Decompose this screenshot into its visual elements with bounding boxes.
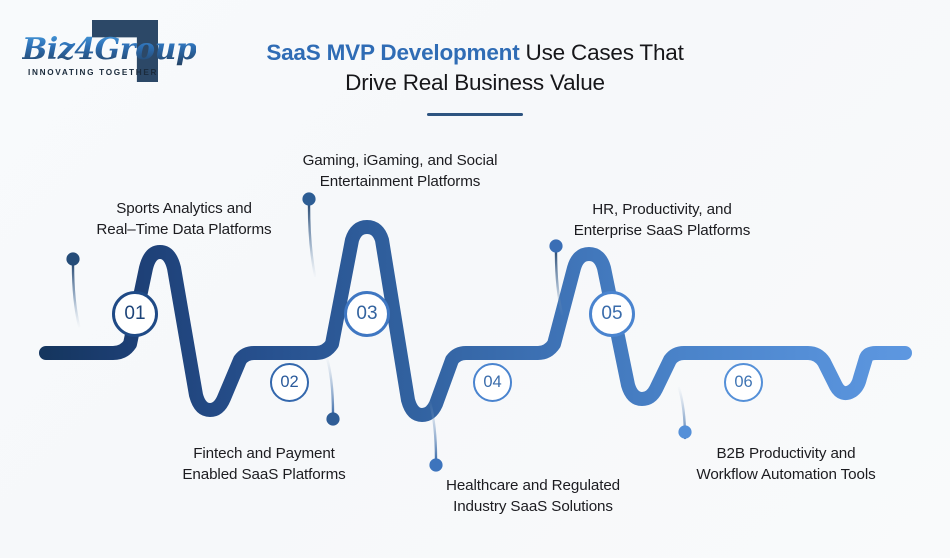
title-underline [427,113,523,116]
step-badge-06[interactable]: 06 [724,363,763,402]
step-badge-02[interactable]: 02 [270,363,309,402]
step-label-03: Gaming, iGaming, and Social Entertainmen… [250,150,550,192]
step-label-04: Healthcare and Regulated Industry SaaS S… [396,475,670,517]
step-label-01: Sports Analytics and Real–Time Data Plat… [36,198,332,240]
step-label-02: Fintech and Payment Enabled SaaS Platfor… [142,443,386,485]
title-line-2: Drive Real Business Value [225,68,725,98]
page-title: SaaS MVP Development Use Cases That Driv… [225,38,725,98]
step-label-05: HR, Productivity, and Enterprise SaaS Pl… [512,199,812,241]
logo-tagline: INNOVATING TOGETHER [28,68,158,77]
step-badge-04[interactable]: 04 [473,363,512,402]
connector-dot-05 [549,239,562,252]
connector-04 [429,402,442,472]
infographic-canvas: Biz4Group INNOVATING TOGETHER SaaS MVP D… [0,0,950,558]
step-label-06: B2B Productivity and Workflow Automation… [646,443,926,485]
logo-wordmark: Biz4Group [22,32,196,67]
title-line-1: SaaS MVP Development Use Cases That [225,38,725,68]
connector-05 [549,239,562,314]
step-badge-05[interactable]: 05 [589,291,635,337]
connector-dot-06 [678,425,691,438]
connector-01 [66,252,79,326]
connector-06 [678,388,691,439]
title-rest: Use Cases That [520,40,684,65]
step-badge-01[interactable]: 01 [112,291,158,337]
connector-02 [326,358,339,426]
connector-dot-01 [66,252,79,265]
title-accent: SaaS MVP Development [266,40,519,65]
logo: Biz4Group INNOVATING TOGETHER [18,18,188,90]
step-badge-03[interactable]: 03 [344,291,390,337]
connector-dot-02 [326,412,339,425]
connector-dot-04 [429,458,442,471]
